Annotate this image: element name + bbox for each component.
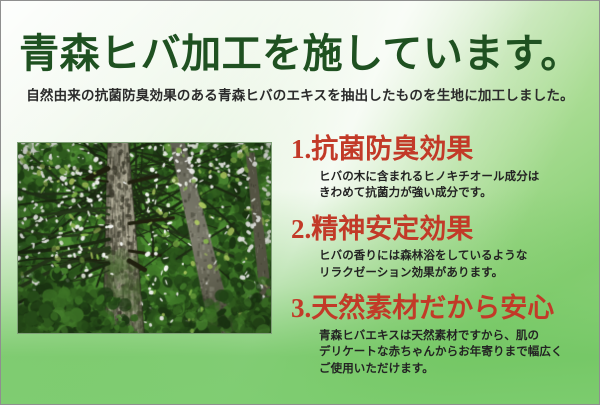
page-title: 青森ヒバ加工を施しています。 [1,1,599,75]
benefit-number-1: 1. [291,134,311,164]
benefit-body-line: ご使用いただけます。 [319,361,597,377]
banner-header: 青森ヒバ加工を施しています。 自然由来の抗菌防臭効果のある青森ヒバのエキスを抽出… [1,1,599,104]
benefit-item-2: 2.精神安定効果 ヒバの香りには森林浴をしているような リラクゼーション効果があ… [291,214,597,282]
benefit-list: 1.抗菌防臭効果 ヒバの木に含まれるヒノキチオール成分は きわめて抗菌力が強い成… [291,134,597,383]
benefit-body-line: ヒバの木に含まれるヒノキチオール成分は [319,169,597,185]
benefit-heading-3: 3.天然素材だから安心 [291,293,597,325]
hiba-promo-banner: 青森ヒバ加工を施しています。 自然由来の抗菌防臭効果のある青森ヒバのエキスを抽出… [0,0,600,405]
benefit-item-3: 3.天然素材だから安心 青森ヒバエキスは天然素材ですから、肌の デリケートな赤ち… [291,293,597,377]
benefit-number-2: 2. [291,214,311,244]
hiba-forest-photo [17,142,272,334]
benefit-heading-text-3: 天然素材だから安心 [311,293,554,323]
benefit-item-1: 1.抗菌防臭効果 ヒバの木に含まれるヒノキチオール成分は きわめて抗菌力が強い成… [291,134,597,202]
benefit-body-line: デリケートな赤ちゃんからお年寄りまで幅広く [319,344,597,360]
benefit-heading-text-2: 精神安定効果 [311,214,473,244]
benefit-body-line: 青森ヒバエキスは天然素材ですから、肌の [319,328,597,344]
benefit-body-2: ヒバの香りには森林浴をしているような リラクゼーション効果があります。 [291,248,597,281]
benefit-body-line: ヒバの香りには森林浴をしているような [319,248,597,264]
benefit-body-line: きわめて抗菌力が強い成分です。 [319,185,597,201]
benefit-heading-2: 2.精神安定効果 [291,214,597,246]
benefit-heading-1: 1.抗菌防臭効果 [291,134,597,166]
hiba-forest-photo-canvas [18,143,271,333]
benefit-body-1: ヒバの木に含まれるヒノキチオール成分は きわめて抗菌力が強い成分です。 [291,169,597,202]
page-subtitle: 自然由来の抗菌防臭効果のある青森ヒバのエキスを抽出したものを生地に加工しました。 [1,75,599,104]
benefit-number-3: 3. [291,293,311,323]
benefit-body-line: リラクゼーション効果があります。 [319,265,597,281]
benefit-heading-text-1: 抗菌防臭効果 [311,134,473,164]
benefit-body-3: 青森ヒバエキスは天然素材ですから、肌の デリケートな赤ちゃんからお年寄りまで幅広… [291,328,597,377]
